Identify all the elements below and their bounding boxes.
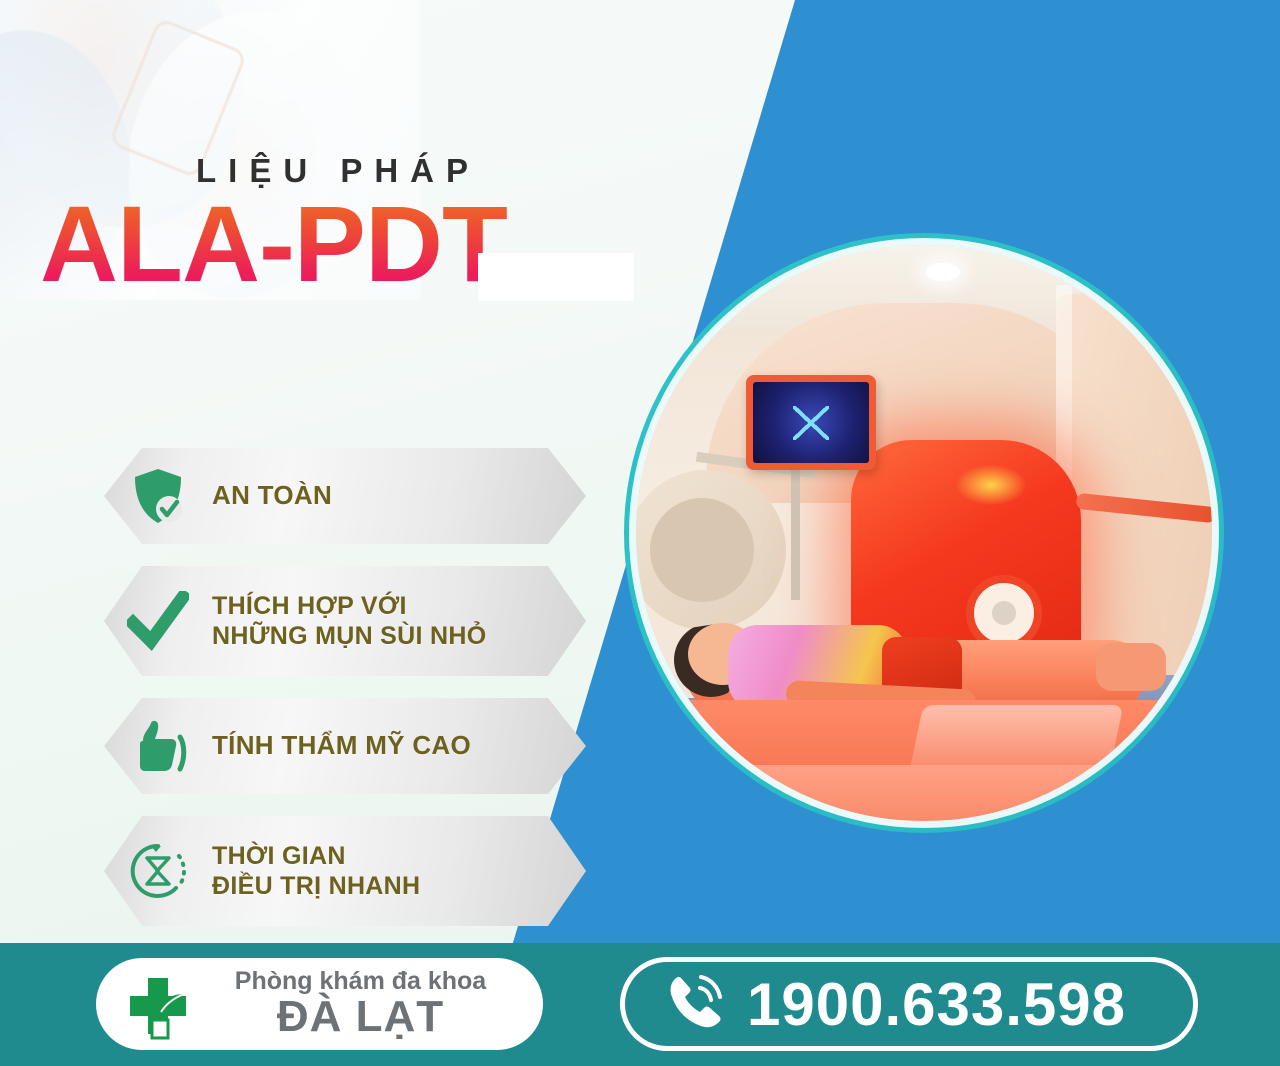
feature-badge-tham-my[interactable]: TÍNH THẨM MỸ CAO xyxy=(104,698,586,794)
footer-bar: Phòng khám đa khoa ĐÀ LẠT 1900.633.598 xyxy=(0,943,1280,1066)
feature-label: THỜI GIAN ĐIỀU TRỊ NHANH xyxy=(212,841,420,902)
shield-check-icon xyxy=(104,467,212,525)
hotline-button[interactable]: 1900.633.598 xyxy=(620,957,1198,1051)
treatment-photo xyxy=(636,245,1212,821)
feature-badge-thoi-gian[interactable]: THỜI GIAN ĐIỀU TRỊ NHANH xyxy=(104,816,586,926)
feature-label: TÍNH THẨM MỸ CAO xyxy=(212,730,471,762)
medical-cross-leaf-logo xyxy=(122,968,194,1040)
poster-root: LIỆU PHÁP ALA-PDT AN TOÀN THÍCH HỢP VỚI xyxy=(0,0,1280,1066)
clinic-brand-pill[interactable]: Phòng khám đa khoa ĐÀ LẠT xyxy=(96,958,543,1050)
blank-white-block xyxy=(478,253,634,301)
feature-label-line: ĐIỀU TRỊ NHANH xyxy=(212,871,420,902)
feature-label-line: THỜI GIAN xyxy=(212,841,420,872)
feature-badge-list: AN TOÀN THÍCH HỢP VỚI NHỮNG MỤN SÙI NHỎ … xyxy=(104,448,594,948)
machine-monitor-icon xyxy=(746,375,876,470)
checkmark-icon xyxy=(104,591,212,651)
feature-label: THÍCH HỢP VỚI NHỮNG MỤN SÙI NHỎ xyxy=(212,591,486,652)
feature-badge-thich-hop[interactable]: THÍCH HỢP VỚI NHỮNG MỤN SÙI NHỎ xyxy=(104,566,586,676)
clock-hourglass-icon xyxy=(104,840,212,902)
phone-call-icon xyxy=(659,969,725,1040)
feature-label-line: THÍCH HỢP VỚI xyxy=(212,591,486,622)
thumbs-up-icon xyxy=(104,717,212,775)
feature-label-line: NHỮNG MỤN SÙI NHỎ xyxy=(212,621,486,652)
page-title: ALA-PDT xyxy=(40,190,507,298)
clinic-name: ĐÀ LẠT xyxy=(277,995,444,1040)
feature-badge-an-toan[interactable]: AN TOÀN xyxy=(104,448,586,544)
hotline-number: 1900.633.598 xyxy=(747,970,1126,1039)
feature-label: AN TOÀN xyxy=(212,480,332,512)
clinic-subtitle: Phòng khám đa khoa xyxy=(235,968,486,994)
